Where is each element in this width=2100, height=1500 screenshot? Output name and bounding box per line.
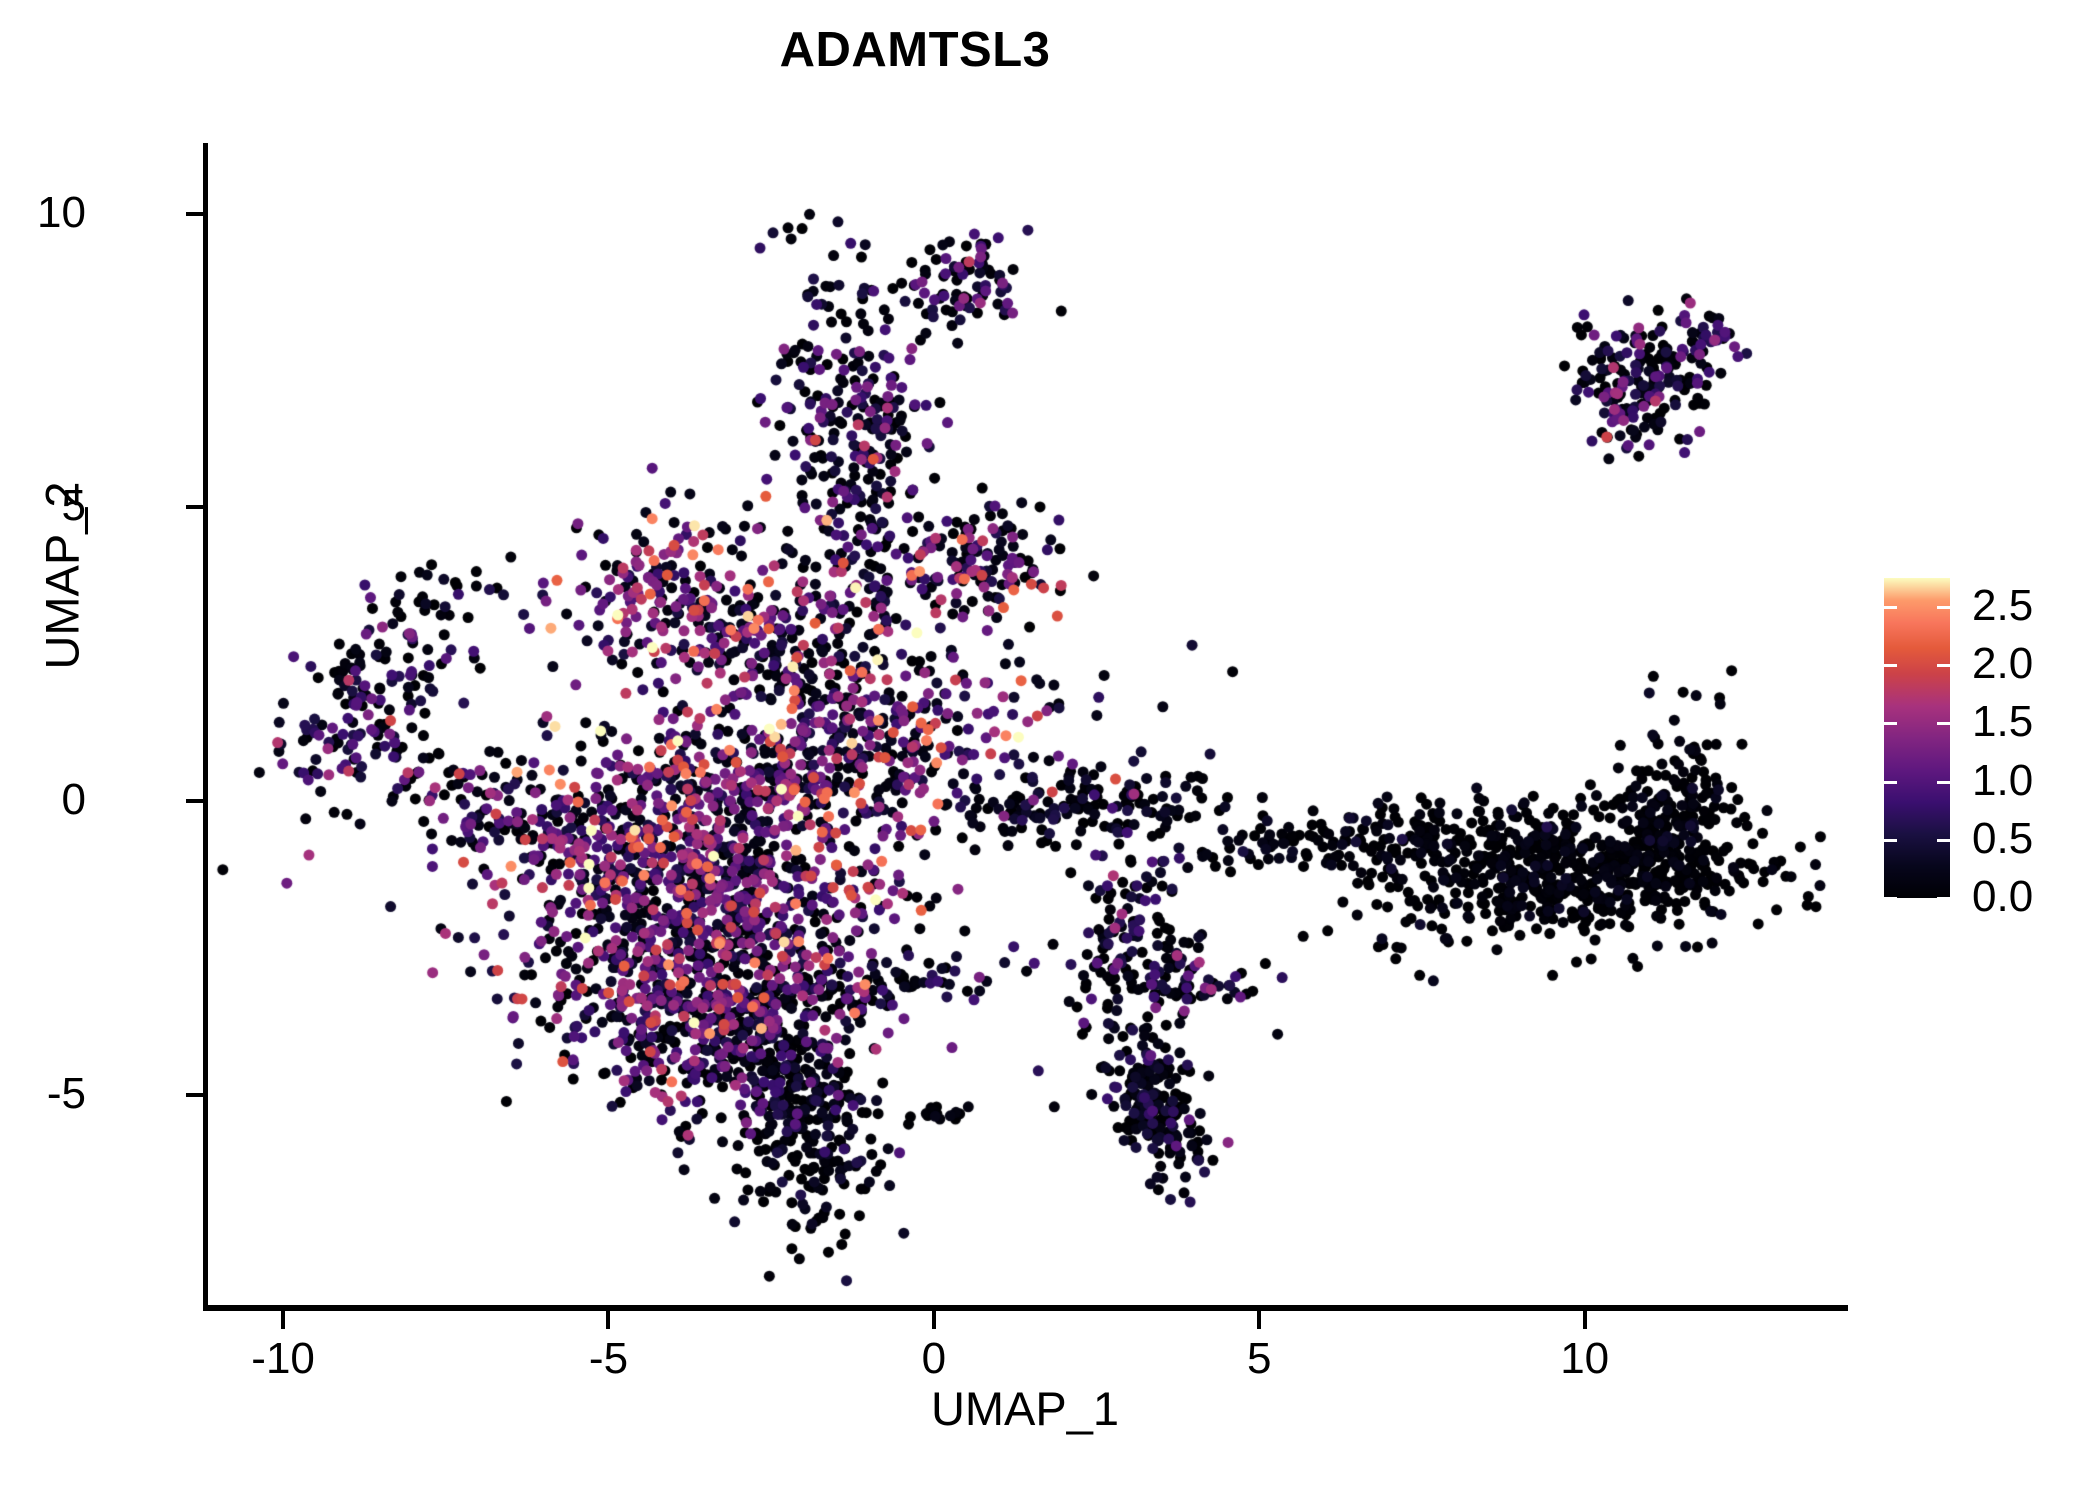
colorbar-tick (1937, 722, 1950, 725)
y-axis-tick (186, 212, 203, 216)
colorbar-tick (1937, 664, 1950, 667)
colorbar-tick (1884, 897, 1897, 900)
x-axis-tick-label: -5 (508, 1337, 708, 1381)
y-axis-line (203, 143, 208, 1311)
x-axis-line (203, 1305, 1848, 1311)
x-axis-tick (1583, 1311, 1587, 1329)
x-axis-tick-label: 10 (1485, 1337, 1685, 1381)
y-axis-tick-label: -5 (0, 1072, 86, 1116)
y-axis-tick (186, 505, 203, 509)
colorbar-tick-label: 2.0 (1972, 642, 2033, 686)
colorbar-tick-label: 0.5 (1972, 817, 2033, 861)
colorbar-tick-label: 2.5 (1972, 584, 2033, 628)
x-axis-tick (281, 1311, 285, 1329)
x-axis-tick (932, 1311, 936, 1329)
colorbar-gradient (1884, 578, 1950, 898)
colorbar-tick (1884, 606, 1897, 609)
feature-plot-figure: ADAMTSL3 -50510 -10-50510 UMAP_1 UMAP_2 … (0, 0, 2100, 1500)
scatter-points-layer (205, 143, 1845, 1307)
y-axis-title: UMAP_2 (39, 196, 86, 956)
colorbar-tick-label: 0.0 (1972, 875, 2033, 919)
x-axis-tick (606, 1311, 610, 1329)
scatter-plot-panel (205, 143, 1845, 1307)
x-axis-tick-label: 5 (1159, 1337, 1359, 1381)
colorbar-tick-label: 1.0 (1972, 759, 2033, 803)
colorbar-tick (1937, 606, 1950, 609)
page-title: ADAMTSL3 (0, 26, 1830, 75)
colorbar-tick (1884, 839, 1897, 842)
y-axis-tick (186, 1093, 203, 1097)
colorbar-tick (1884, 781, 1897, 784)
x-axis-tick (1257, 1311, 1261, 1329)
colorbar-tick (1937, 897, 1950, 900)
colorbar-tick (1937, 839, 1950, 842)
y-axis-tick (186, 799, 203, 803)
x-axis-tick-label: -10 (183, 1337, 383, 1381)
colorbar-tick (1884, 722, 1897, 725)
colorbar-tick-label: 1.5 (1972, 700, 2033, 744)
colorbar-tick (1884, 664, 1897, 667)
x-axis-title: UMAP_1 (205, 1385, 1845, 1432)
x-axis-tick-label: 0 (834, 1337, 1034, 1381)
colorbar-tick (1937, 781, 1950, 784)
